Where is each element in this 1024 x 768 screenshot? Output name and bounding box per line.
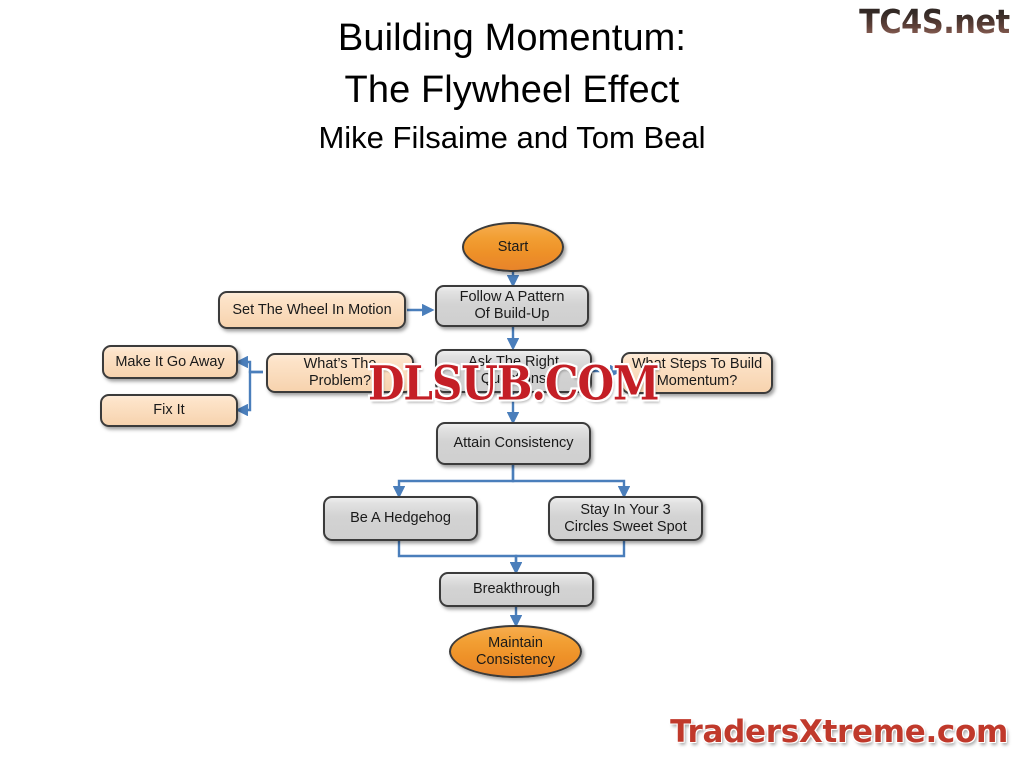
node-make-it-go-away-label: Make It Go Away (109, 354, 230, 371)
edge-circles-to-breakthrough (516, 541, 624, 572)
edge-consistency-to-hedgehog (399, 465, 513, 496)
node-whats-the-problem-label: What’s The Problem? (298, 356, 383, 390)
node-maintain-consistency[interactable]: Maintain Consistency (449, 625, 582, 678)
node-stay-in-your-3-circles-sweet-spot-label: Stay In Your 3 Circles Sweet Spot (558, 502, 693, 536)
edge-hedgehog-to-breakthrough (399, 541, 516, 572)
node-breakthrough[interactable]: Breakthrough (439, 572, 594, 607)
node-ask-the-right-questions[interactable]: Ask The Right Questions (435, 349, 592, 393)
flywheel-flowchart: Start Follow A Pattern Of Build-Up Set T… (0, 0, 1024, 768)
node-what-steps-to-build-momentum[interactable]: What Steps To Build Momentum? (621, 352, 773, 394)
node-attain-consistency-label: Attain Consistency (447, 435, 579, 452)
node-start-label: Start (492, 239, 535, 256)
node-maintain-consistency-label: Maintain Consistency (470, 635, 561, 669)
node-fix-it-label: Fix It (147, 402, 190, 419)
node-what-steps-to-build-momentum-label: What Steps To Build Momentum? (626, 356, 768, 390)
node-set-the-wheel-in-motion-label: Set The Wheel In Motion (226, 302, 397, 319)
node-whats-the-problem[interactable]: What’s The Problem? (266, 353, 414, 393)
node-follow-a-pattern[interactable]: Follow A Pattern Of Build-Up (435, 285, 589, 327)
edge-problem-to-goaway (238, 362, 263, 372)
node-set-the-wheel-in-motion[interactable]: Set The Wheel In Motion (218, 291, 406, 329)
node-breakthrough-label: Breakthrough (467, 581, 566, 598)
node-make-it-go-away[interactable]: Make It Go Away (102, 345, 238, 379)
node-be-a-hedgehog[interactable]: Be A Hedgehog (323, 496, 478, 541)
node-stay-in-your-3-circles-sweet-spot[interactable]: Stay In Your 3 Circles Sweet Spot (548, 496, 703, 541)
node-follow-a-pattern-label: Follow A Pattern Of Build-Up (454, 289, 571, 323)
edge-problem-to-fixit (238, 372, 263, 410)
node-start[interactable]: Start (462, 222, 564, 272)
node-be-a-hedgehog-label: Be A Hedgehog (344, 510, 457, 527)
node-fix-it[interactable]: Fix It (100, 394, 238, 427)
node-ask-the-right-questions-label: Ask The Right Questions (437, 354, 590, 388)
edge-consistency-to-circles (513, 465, 624, 496)
node-attain-consistency[interactable]: Attain Consistency (436, 422, 591, 465)
